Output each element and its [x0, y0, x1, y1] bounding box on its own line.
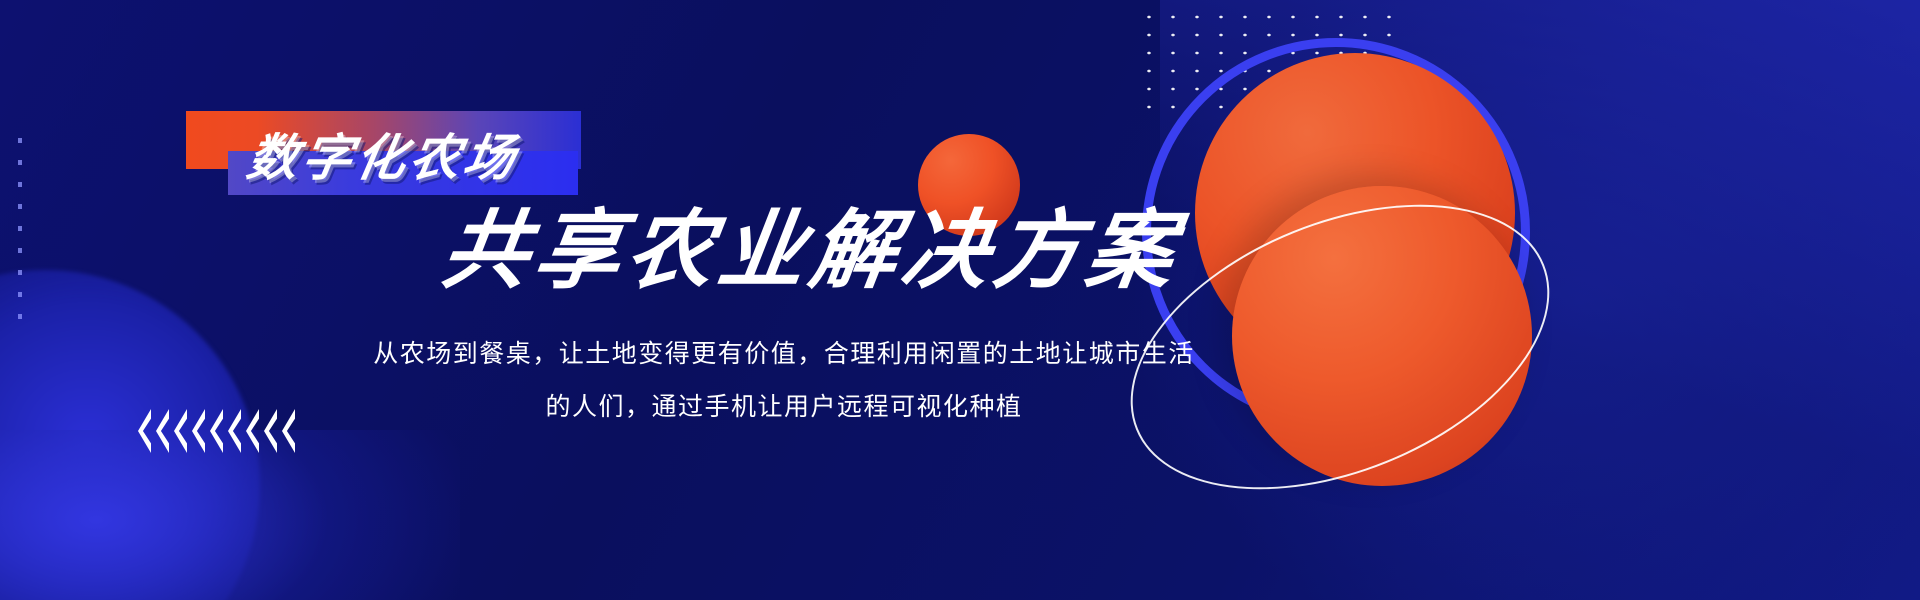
chevron-left-icon — [210, 409, 223, 453]
chevron-left-icon — [228, 409, 241, 453]
background-bottom-left-glow — [0, 430, 460, 600]
chevron-left-icon — [156, 409, 169, 453]
chevron-left-icon — [174, 409, 187, 453]
page-title: 共享农业解决方案 — [436, 204, 1185, 299]
subtitle-line-1: 从农场到餐桌，让土地变得更有价值，合理利用闲置的土地让城市生活 — [356, 328, 1212, 381]
promo-banner: 数字化农场 共享农业解决方案 从农场到餐桌，让土地变得更有价值，合理利用闲置的土… — [0, 0, 1920, 600]
tag-label: 数字化农场 — [244, 133, 523, 183]
subtitle-line-2: 的人们，通过手机让用户远程可视化种植 — [356, 381, 1212, 434]
dotted-vertical-line-icon — [18, 138, 22, 326]
category-tag: 数字化农场 — [186, 111, 586, 195]
chevron-left-icon — [138, 409, 151, 453]
chevron-left-icon — [264, 409, 277, 453]
subtitle: 从农场到餐桌，让土地变得更有价值，合理利用闲置的土地让城市生活 的人们，通过手机… — [356, 328, 1212, 433]
chevron-left-icon — [246, 409, 259, 453]
chevron-left-icon — [282, 409, 295, 453]
chevron-left-icon — [192, 409, 205, 453]
chevron-left-cluster-icon — [138, 409, 295, 453]
